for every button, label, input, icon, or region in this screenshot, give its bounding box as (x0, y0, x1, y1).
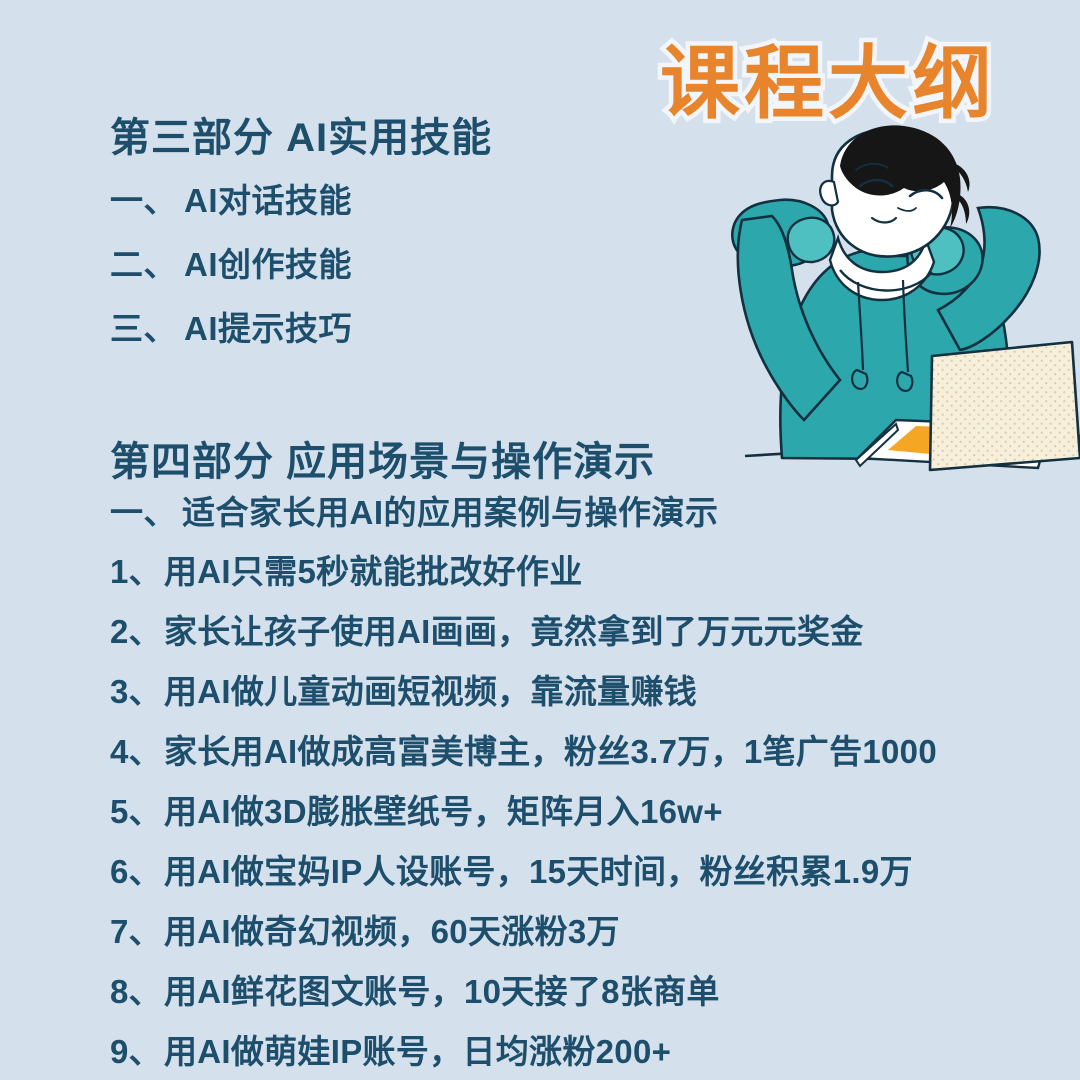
list-marker: 9、 (110, 1035, 162, 1068)
list-text: 用AI只需5秒就能批改好作业 (164, 553, 583, 590)
course-outline-title-badge: 课程大纲 (660, 36, 1060, 132)
list-text: 家长让孩子使用AI画画，竟然拿到了万元元奖金 (164, 613, 864, 650)
list-marker: 7、 (110, 915, 162, 948)
list-marker: 1、 (110, 555, 162, 588)
list-text: 用AI鲜花图文账号，10天接了8张商单 (164, 973, 720, 1010)
list-text: 用AI做奇幻视频，60天涨粉3万 (164, 913, 620, 950)
list-text: 适合家长用AI的应用案例与操作演示 (182, 494, 719, 531)
list-marker: 二、 (110, 246, 177, 283)
list-text: 家长用AI做成高富美博主，粉丝3.7万，1笔广告1000 (164, 733, 937, 770)
list-item: 6、用AI做宝妈IP人设账号，15天时间，粉丝积累1.9万 (110, 855, 1040, 888)
list-item: 1、用AI只需5秒就能批改好作业 (110, 555, 1040, 588)
list-text: 用AI做儿童动画短视频，靠流量赚钱 (164, 673, 697, 710)
outline-content: 第三部分 AI实用技能 一、AI对话技能 二、AI创作技能 三、AI提示技巧 第… (110, 118, 1040, 1080)
section-spacer (110, 376, 1040, 442)
list-marker: 4、 (110, 735, 162, 768)
list-marker: 2、 (110, 615, 162, 648)
section-four-intro-item: 一、适合家长用AI的应用案例与操作演示 (110, 496, 1040, 529)
list-marker: 一、 (110, 494, 177, 531)
list-marker: 3、 (110, 675, 162, 708)
list-marker: 一、 (110, 182, 177, 219)
list-text: 用AI做3D膨胀壁纸号，矩阵月入16w+ (164, 793, 723, 830)
list-item: 3、用AI做儿童动画短视频，靠流量赚钱 (110, 675, 1040, 708)
list-item: 2、家长让孩子使用AI画画，竟然拿到了万元元奖金 (110, 615, 1040, 648)
list-item: 一、AI对话技能 (110, 184, 1040, 217)
list-item: 4、家长用AI做成高富美博主，粉丝3.7万，1笔广告1000 (110, 735, 1040, 768)
list-item: 二、AI创作技能 (110, 248, 1040, 281)
list-text: AI对话技能 (184, 182, 352, 219)
list-text: AI提示技巧 (184, 310, 352, 347)
list-marker: 5、 (110, 795, 162, 828)
list-marker: 6、 (110, 855, 162, 888)
section-part-four: 第四部分 应用场景与操作演示 一、适合家长用AI的应用案例与操作演示 1、用AI… (110, 442, 1040, 1068)
poster-canvas: 课程大纲 第三部分 AI实用技能 一、AI对话技能 二、AI创作技能 三、AI提… (0, 0, 1080, 1080)
section-four-heading: 第四部分 应用场景与操作演示 (110, 442, 1040, 482)
section-part-three: 第三部分 AI实用技能 一、AI对话技能 二、AI创作技能 三、AI提示技巧 (110, 118, 1040, 345)
list-item: 7、用AI做奇幻视频，60天涨粉3万 (110, 915, 1040, 948)
list-item: 三、AI提示技巧 (110, 312, 1040, 345)
list-text: 用AI做宝妈IP人设账号，15天时间，粉丝积累1.9万 (164, 853, 913, 890)
list-marker: 三、 (110, 310, 177, 347)
course-outline-title-text: 课程大纲 (660, 44, 996, 124)
list-marker: 8、 (110, 975, 162, 1008)
list-text: 用AI做萌娃IP账号，日均涨粉200+ (164, 1033, 671, 1070)
list-text: AI创作技能 (184, 246, 352, 283)
list-item: 8、用AI鲜花图文账号，10天接了8张商单 (110, 975, 1040, 1008)
list-item: 5、用AI做3D膨胀壁纸号，矩阵月入16w+ (110, 795, 1040, 828)
list-item: 9、用AI做萌娃IP账号，日均涨粉200+ (110, 1035, 1040, 1068)
